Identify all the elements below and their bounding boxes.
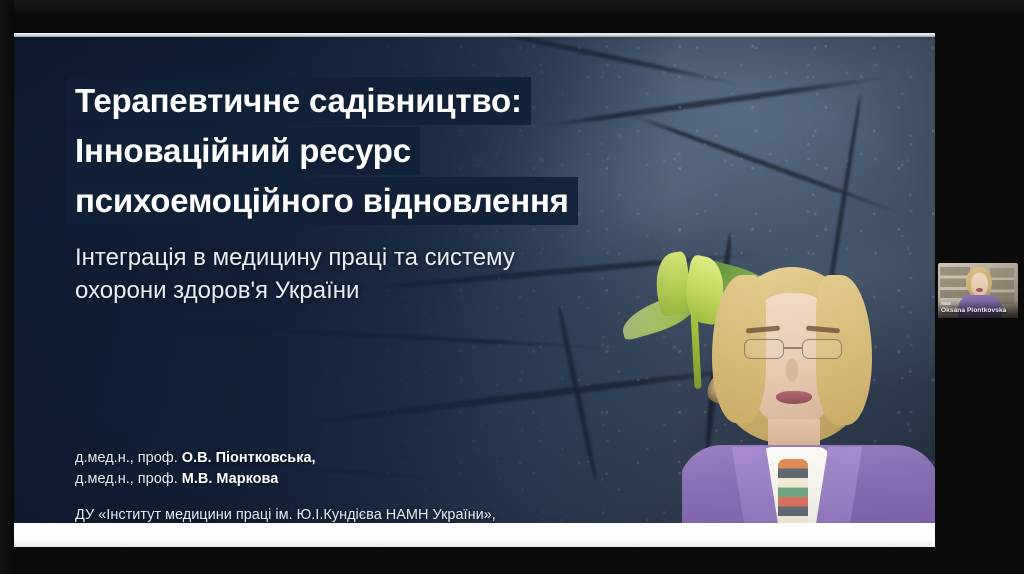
slide-title: Терапевтичне садівництво: Інноваційний р… — [66, 77, 578, 227]
window-chrome-left — [0, 0, 14, 574]
subtitle-line-1: Інтеграція в медицину праці та систему — [75, 241, 515, 274]
slide-authors: д.мед.н., проф. О.В. Піонтковська, д.мед… — [75, 448, 316, 489]
thumbnail-mouth — [976, 288, 983, 292]
author-row: д.мед.н., проф. М.В. Маркова — [75, 469, 316, 490]
participant-thumbnail[interactable]: Oksana Piontkovska — [938, 263, 1018, 318]
title-line-2: Інноваційний ресурс — [66, 127, 420, 175]
window-chrome-top — [0, 0, 1024, 14]
shared-screen-slide[interactable]: Терапевтичне садівництво: Інноваційний р… — [14, 33, 935, 547]
author-degree-2: д.мед.н., проф. — [75, 471, 182, 487]
author-name-2: М.В. Маркова — [182, 471, 279, 487]
author-degree-1: д.мед.н., проф. — [75, 450, 182, 466]
glasses-lens-left — [744, 339, 784, 359]
title-line-1: Терапевтичне садівництво: — [66, 77, 531, 125]
author-row: д.мед.н., проф. О.В. Піонтковська, — [75, 448, 316, 469]
presenter-glasses — [744, 339, 842, 359]
title-line-3: психоемоційного відновлення — [66, 177, 578, 225]
participant-name-label: Oksana Piontkovska — [941, 307, 1006, 314]
presenter-video-overlay[interactable] — [682, 263, 935, 523]
subtitle-line-2: охорони здоров'я України — [75, 274, 515, 307]
presenter-nose — [786, 359, 798, 381]
presenter-scarf — [778, 459, 808, 523]
slide-subtitle: Інтеграція в медицину праці та систему о… — [75, 241, 515, 307]
microphone-icon — [941, 302, 951, 305]
glasses-lens-right — [802, 339, 842, 359]
video-conference-stage: Терапевтичне садівництво: Інноваційний р… — [0, 0, 1024, 574]
thumbnail-face — [971, 273, 988, 297]
presenter-mouth — [776, 391, 812, 404]
glasses-bridge — [784, 347, 802, 349]
author-name-1: О.В. Піонтковська, — [182, 450, 316, 466]
slide-top-edge — [14, 33, 935, 37]
slide-bottom-band — [14, 523, 935, 547]
